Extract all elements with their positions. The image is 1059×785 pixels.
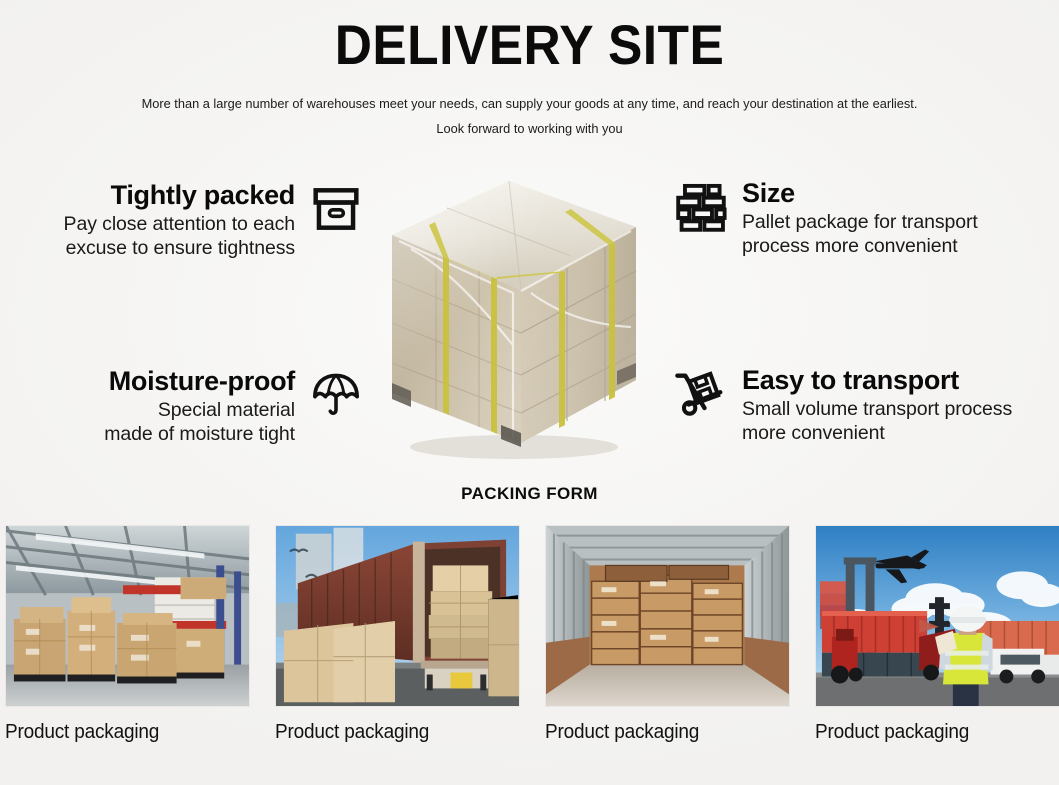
feature-description: Pallet package for transport process mor… (742, 211, 978, 259)
umbrella-icon (307, 366, 365, 424)
feature-desc-line-1: Small volume transport process (742, 398, 1012, 420)
packing-form-gallery: Product packaging (5, 525, 1054, 775)
feature-desc-line-1: Special material (158, 399, 295, 421)
feature-desc-line-1: Pay close attention to each (64, 213, 295, 235)
feature-text: Moisture-proof Special material made of … (104, 366, 295, 447)
feature-tightly-packed: Tightly packed Pay close attention to ea… (0, 180, 365, 261)
feature-size: Size Pallet package for transport proces… (672, 178, 1052, 259)
feature-easy-to-transport: Easy to transport Small volume transport… (672, 365, 1057, 446)
feature-description: Small volume transport process more conv… (742, 398, 1012, 446)
header-subtitle: More than a large number of warehouses m… (16, 91, 1043, 141)
warehouse-interior-photo[interactable] (5, 525, 250, 707)
container-yard-photo[interactable] (815, 525, 1059, 707)
feature-moisture-proof: Moisture-proof Special material made of … (0, 366, 365, 447)
gallery-card[interactable]: Product packaging (5, 525, 250, 775)
hand-truck-icon (672, 365, 730, 423)
packing-form-heading: PACKING FORM (0, 484, 1059, 504)
feature-text: Tightly packed Pay close attention to ea… (64, 180, 295, 261)
gallery-caption: Product packaging (545, 721, 778, 744)
subtitle-line-2: Look forward to working with you (16, 116, 1043, 141)
brick-wall-icon (672, 178, 730, 236)
feature-title: Moisture-proof (104, 366, 295, 396)
feature-text: Size Pallet package for transport proces… (742, 178, 978, 259)
gallery-card[interactable]: Product packaging (815, 525, 1059, 775)
archive-box-icon (307, 180, 365, 238)
feature-description: Pay close attention to each excuse to en… (64, 213, 295, 261)
feature-text: Easy to transport Small volume transport… (742, 365, 1012, 446)
container-loading-photo[interactable] (275, 525, 520, 707)
feature-desc-line-2: process more convenient (742, 235, 958, 257)
gallery-card[interactable]: Product packaging (275, 525, 520, 775)
gallery-caption: Product packaging (815, 721, 1048, 744)
feature-title: Tightly packed (64, 180, 295, 210)
header: DELIVERY SITE More than a large number o… (0, 16, 1059, 141)
pallet-photo (381, 175, 647, 463)
gallery-card[interactable]: Product packaging (545, 525, 790, 775)
feature-desc-line-2: made of moisture tight (104, 423, 295, 445)
container-interior-photo[interactable] (545, 525, 790, 707)
delivery-site-banner: DELIVERY SITE More than a large number o… (0, 0, 1059, 785)
gallery-caption: Product packaging (5, 721, 238, 744)
feature-title: Size (742, 178, 978, 208)
subtitle-line-1: More than a large number of warehouses m… (142, 96, 918, 111)
feature-desc-line-1: Pallet package for transport (742, 211, 978, 233)
page-title: DELIVERY SITE (42, 16, 1016, 75)
feature-desc-line-2: excuse to ensure tightness (66, 237, 295, 259)
gallery-caption: Product packaging (275, 721, 508, 744)
feature-description: Special material made of moisture tight (104, 399, 295, 447)
feature-desc-line-2: more convenient (742, 422, 885, 444)
feature-title: Easy to transport (742, 365, 1012, 395)
